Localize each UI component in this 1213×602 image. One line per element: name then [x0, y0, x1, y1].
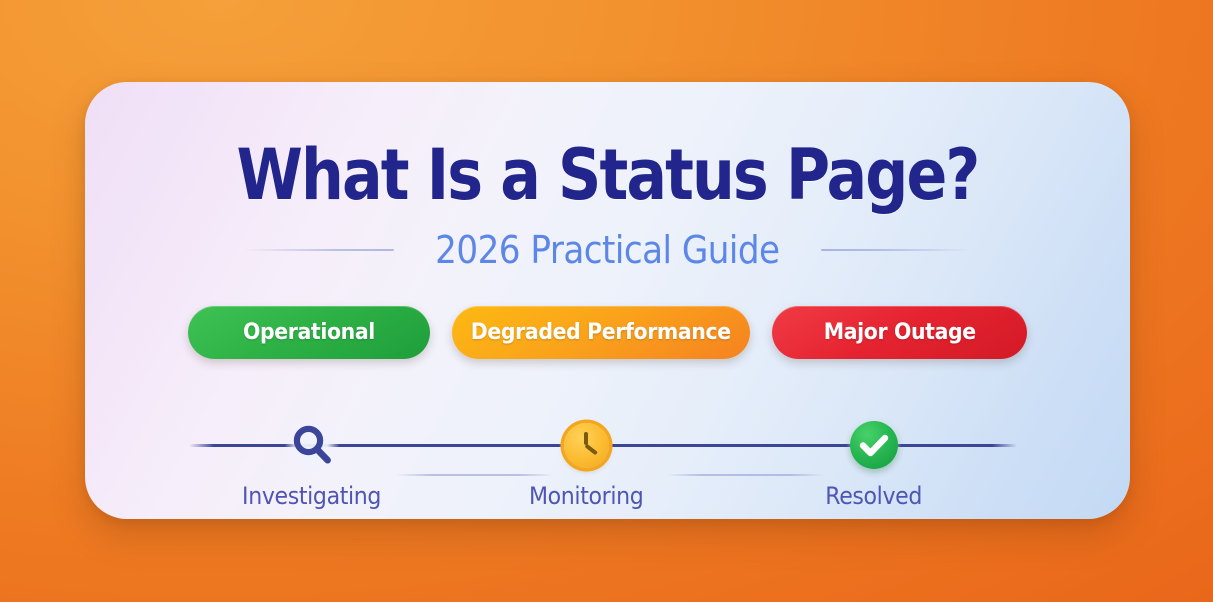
clock-minute-hand — [585, 443, 598, 454]
timeline-step-resolved[interactable]: Resolved — [814, 416, 934, 510]
status-badge-operational-label: Operational — [243, 320, 375, 345]
status-badge-major-outage[interactable]: Major Outage — [772, 306, 1027, 359]
clock-hour-hand — [584, 432, 588, 445]
status-page-card: What Is a Status Page? 2026 Practical Gu… — [85, 82, 1130, 519]
timeline-step-label-investigating: Investigating — [242, 482, 381, 510]
clock-icon — [557, 416, 615, 474]
timeline-step-label-monitoring: Monitoring — [529, 482, 643, 510]
check-circle-icon — [845, 416, 903, 474]
timeline-step-label-resolved: Resolved — [826, 482, 923, 510]
timeline-step-investigating[interactable]: Investigating — [252, 416, 372, 510]
timeline-step-monitoring[interactable]: Monitoring — [526, 416, 646, 510]
subtitle-rule-right — [821, 249, 971, 251]
status-pill-group: Operational Degraded Performance Major O… — [85, 306, 1130, 359]
page-title: What Is a Status Page? — [158, 134, 1057, 216]
status-badge-operational[interactable]: Operational — [188, 306, 430, 359]
subtitle-rule-left — [244, 249, 394, 251]
magnifying-glass-icon — [283, 416, 341, 474]
incident-timeline: Investigating Monitoring Resolved — [189, 394, 1017, 494]
subtitle-row: 2026 Practical Guide — [85, 228, 1130, 272]
timeline-label-connector-2 — [667, 474, 825, 476]
page-subtitle: 2026 Practical Guide — [435, 228, 779, 272]
status-badge-major-outage-label: Major Outage — [823, 320, 975, 345]
status-badge-degraded-label: Degraded Performance — [471, 320, 731, 345]
status-badge-degraded[interactable]: Degraded Performance — [452, 306, 750, 359]
